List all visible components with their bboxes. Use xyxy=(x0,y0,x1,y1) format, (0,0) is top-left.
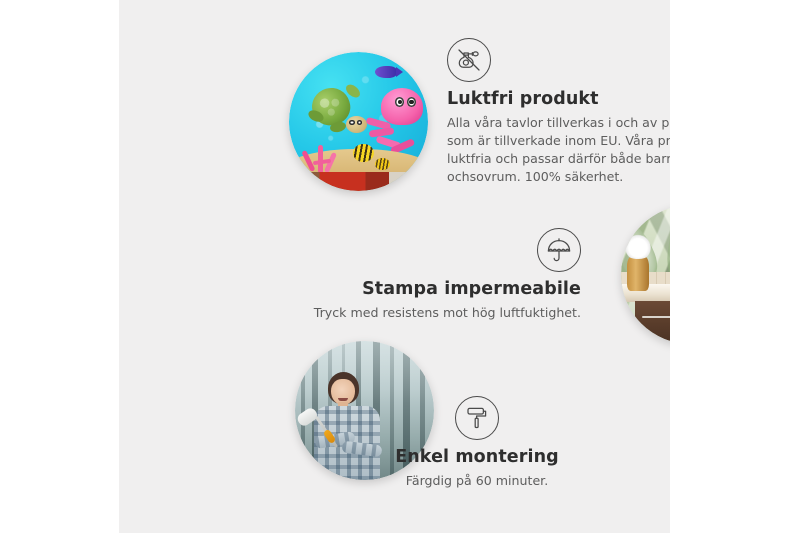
pink-coral xyxy=(300,138,342,174)
photo-bathroom-inner xyxy=(621,205,670,344)
feature-waterproof-icon-wrap xyxy=(537,228,581,272)
turtle-head xyxy=(346,116,367,133)
octopus-eye-left xyxy=(395,97,404,107)
photo-underwater-inner xyxy=(289,52,428,191)
feature-odourless: Luktfri produkt Alla våra tavlor tillver… xyxy=(447,38,670,186)
turtle-flipper-bottom xyxy=(329,121,347,134)
bathroom-wooden-cabinet xyxy=(635,301,670,344)
feature-easy-assembly-body: Färgdig på 60 minuter. xyxy=(381,472,573,490)
feature-odourless-icon-wrap xyxy=(447,38,491,82)
yellow-striped-fish xyxy=(353,144,374,162)
infographic-stage: Luktfri produkt Alla våra tavlor tillver… xyxy=(0,0,800,533)
woman-smile xyxy=(338,398,347,401)
photo-bathroom-tropical-wallpaper xyxy=(621,205,670,344)
woman-painter xyxy=(309,372,387,480)
pink-octopus xyxy=(367,88,425,155)
octopus-body xyxy=(381,88,423,125)
feature-waterproof-heading: Stampa impermeabile xyxy=(309,279,581,299)
feature-easy-assembly-icon-wrap xyxy=(455,396,499,440)
feature-odourless-heading: Luktfri produkt xyxy=(447,89,670,109)
umbrella-icon xyxy=(537,228,581,272)
purple-fish xyxy=(375,66,397,79)
feature-odourless-body: Alla våra tavlor tillverkas i och av pro… xyxy=(447,114,670,186)
feature-waterproof-body: Tryck med resistens mot hög luftfuktighe… xyxy=(309,304,581,322)
photo-underwater-kids-mural xyxy=(289,52,428,191)
mural-bottom-strip xyxy=(289,172,428,191)
octopus-eye-right xyxy=(407,97,416,107)
feature-easy-assembly: Enkel montering Färgdig på 60 minuter. xyxy=(381,396,573,490)
no-fragrance-icon xyxy=(447,38,491,82)
feature-waterproof: Stampa impermeabile Tryck med resistens … xyxy=(309,228,581,322)
paint-roller-icon xyxy=(455,396,499,440)
feature-easy-assembly-heading: Enkel montering xyxy=(381,447,573,467)
sea-turtle xyxy=(307,85,368,135)
bathroom-vase-with-flowers xyxy=(627,255,649,291)
infographic-panel: Luktfri produkt Alla våra tavlor tillver… xyxy=(119,0,670,533)
